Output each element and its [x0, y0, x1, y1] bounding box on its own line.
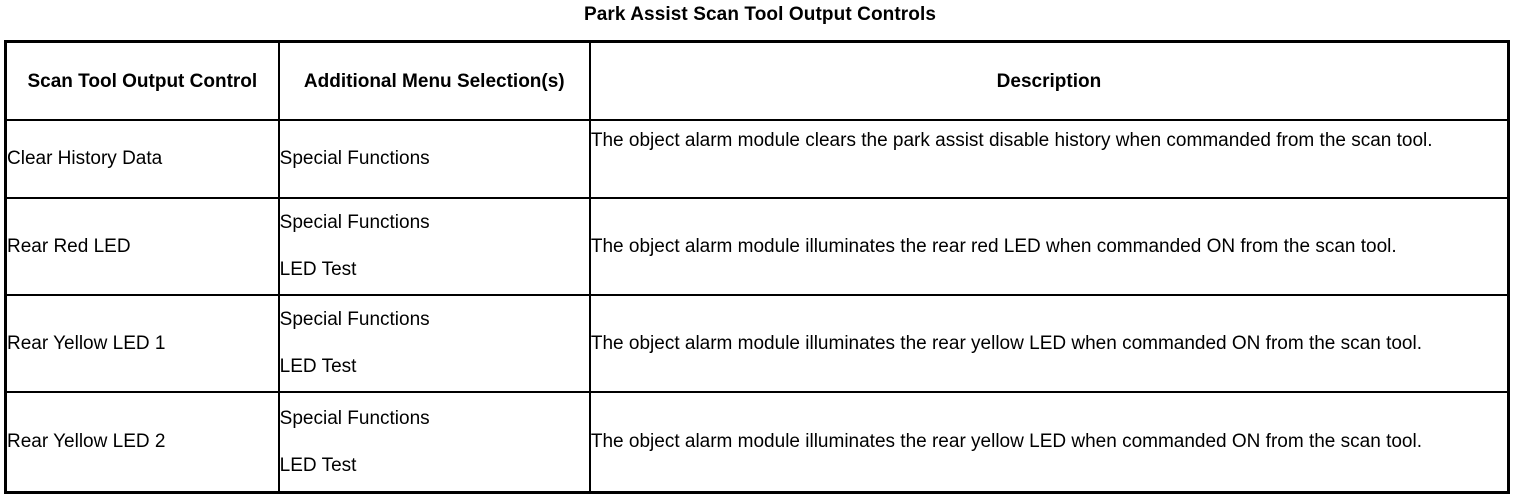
cell-menu-rear-yellow-led-2: Special Functions LED Test — [279, 392, 590, 493]
page-title: Park Assist Scan Tool Output Controls — [0, 3, 1520, 27]
table-header: Scan Tool Output Control Additional Menu… — [6, 42, 1509, 121]
menu-line: Special Functions — [280, 147, 589, 171]
table-row: Rear Yellow LED 1 Special Functions LED … — [6, 295, 1509, 392]
cell-menu-rear-yellow-led-1: Special Functions LED Test — [279, 295, 590, 392]
column-header-additional-menu-selections: Additional Menu Selection(s) — [279, 42, 590, 121]
cell-control-rear-yellow-led-1: Rear Yellow LED 1 — [6, 295, 279, 392]
document-page: Park Assist Scan Tool Output Controls Sc… — [0, 0, 1520, 488]
cell-menu-clear-history-data: Special Functions — [279, 120, 590, 198]
column-header-scan-tool-output-control: Scan Tool Output Control — [6, 42, 279, 121]
table-row: Clear History Data Special Functions The… — [6, 120, 1509, 198]
table-row: Rear Yellow LED 2 Special Functions LED … — [6, 392, 1509, 493]
cell-control-rear-red-led: Rear Red LED — [6, 198, 279, 295]
table-row: Rear Red LED Special Functions LED Test … — [6, 198, 1509, 295]
scan-tool-output-controls-table: Scan Tool Output Control Additional Menu… — [4, 40, 1510, 494]
cell-description-rear-red-led: The object alarm module illuminates the … — [590, 198, 1509, 295]
table-body: Clear History Data Special Functions The… — [6, 120, 1509, 493]
cell-control-rear-yellow-led-2: Rear Yellow LED 2 — [6, 392, 279, 493]
cell-description-clear-history-data: The object alarm module clears the park … — [590, 120, 1509, 198]
cell-description-rear-yellow-led-2: The object alarm module illuminates the … — [590, 392, 1509, 493]
column-header-description: Description — [590, 42, 1509, 121]
menu-line: Special Functions — [280, 308, 589, 332]
menu-line: LED Test — [280, 258, 589, 282]
cell-description-rear-yellow-led-1: The object alarm module illuminates the … — [590, 295, 1509, 392]
menu-line: Special Functions — [280, 407, 589, 431]
menu-line: LED Test — [280, 355, 589, 379]
table-header-row: Scan Tool Output Control Additional Menu… — [6, 42, 1509, 121]
cell-control-clear-history-data: Clear History Data — [6, 120, 279, 198]
menu-line: LED Test — [280, 454, 589, 478]
cell-menu-rear-red-led: Special Functions LED Test — [279, 198, 590, 295]
menu-line: Special Functions — [280, 211, 589, 235]
